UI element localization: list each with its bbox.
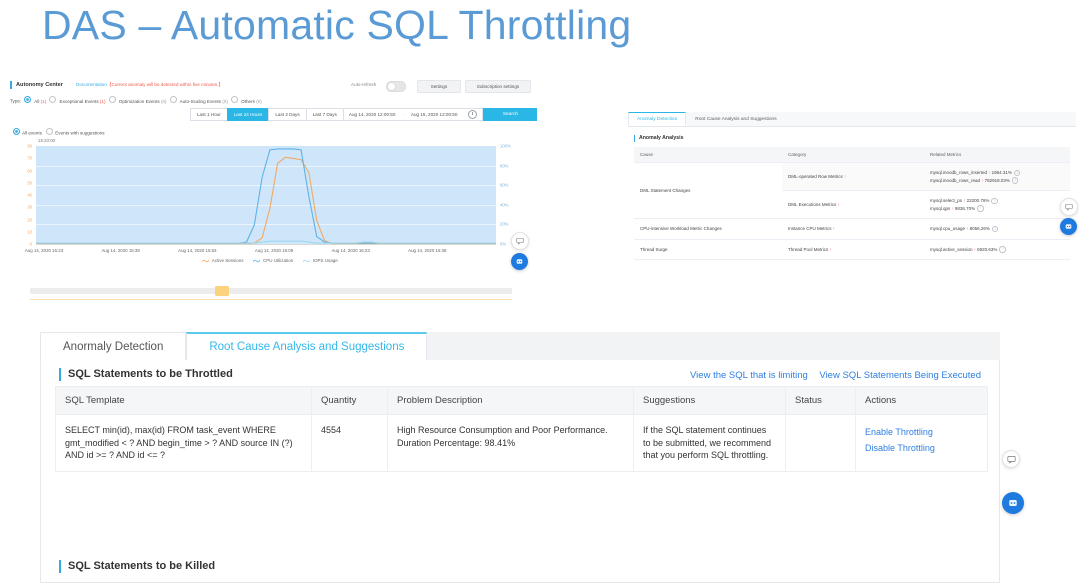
right-panel-tabs: Anomaly Detection Root Cause Analysis an… <box>628 112 1076 127</box>
x-axis-tick: Aug 14, 2020 15:23 <box>25 248 63 253</box>
root-cause-panel: Anormaly Detection Root Cause Analysis a… <box>40 332 1000 582</box>
tab-anormaly-detection[interactable]: Anormaly Detection <box>40 332 186 360</box>
link-view-executing-sql[interactable]: View SQL Statements Being Executed <box>819 370 981 381</box>
cell-category: Instance CPU Metrics ↑ <box>782 219 924 240</box>
y-left-tick: 60 <box>27 168 32 173</box>
col-category: Category <box>782 147 924 163</box>
radio-type-exceptional-events[interactable] <box>49 96 56 103</box>
count-type-auto-scaling-events: (0) <box>222 99 228 104</box>
slide-root: DAS – Automatic SQL Throttling Autonomy … <box>0 0 1080 588</box>
metric-name: mysql.select_ps <box>930 198 962 203</box>
trend-up-icon: ↑ <box>963 198 965 203</box>
col-actions: Actions <box>856 387 988 415</box>
trend-up-icon: ↑ <box>838 202 840 207</box>
metric-value: 6920.63% <box>977 247 997 252</box>
info-icon[interactable]: ? <box>977 205 983 211</box>
link-view-limiting-sql[interactable]: View the SQL that is limiting <box>690 370 808 381</box>
type-filter-label: Type: <box>10 99 21 104</box>
legend-swatch-icon <box>253 259 260 263</box>
chart-plot-area <box>36 146 496 245</box>
cell-related-metrics: mysql.select_ps ↑ 22200.76%?mysql.qps ↑ … <box>924 191 1070 219</box>
metric-item: mysql.innodb_rows_inserted ↑ 1964.31%? <box>930 169 1064 177</box>
y-right-tick: 20% <box>500 222 508 227</box>
table-row[interactable]: CPU-intensive Workload Metric ChangesIns… <box>634 219 1070 240</box>
range-last-1-hour[interactable]: Last 1 Hour <box>190 108 227 121</box>
chart-tooltip-time: 15:23:00 <box>38 138 55 143</box>
trend-up-icon: ↑ <box>981 178 983 183</box>
x-axis-tick: Aug 14, 2020 15:53 <box>178 248 216 253</box>
radio-type-optimization-events[interactable] <box>109 96 116 103</box>
label-all-events: All events <box>22 131 42 136</box>
robot-icon <box>1007 497 1019 509</box>
chart-y-axis-left: 80706050403020100 <box>10 146 32 244</box>
info-icon[interactable]: ? <box>992 226 998 232</box>
bottom-panel-body: SQL Statements to be Throttled View the … <box>40 360 1000 583</box>
count-type-exceptional-events: (1) <box>100 99 106 104</box>
robot-icon <box>515 257 524 266</box>
cell-category: DML-operated Row Metrics ↑ <box>782 163 924 191</box>
metric-item: mysql.cpu_usage ↑ 8056.26%? <box>930 225 1064 233</box>
subscription-settings-button[interactable]: Subscription settings <box>465 80 531 93</box>
cell-cause: Thread Surge <box>634 239 782 260</box>
table-row[interactable]: Thread SurgeThread Pool Metrics ↑mysql.a… <box>634 239 1070 260</box>
throttled-section-header: SQL Statements to be Throttled View the … <box>41 360 999 386</box>
feedback-icon-right[interactable] <box>1060 198 1078 216</box>
radio-all-events[interactable] <box>13 128 20 135</box>
event-filter-row[interactable]: All events Events with suggestions <box>10 128 105 136</box>
cell-category: DML Executions Metrics ↑ <box>782 191 924 219</box>
range-last-24-hours[interactable]: Last 24 Hours <box>227 108 269 121</box>
killed-section-title: SQL Statements to be Killed <box>59 560 215 573</box>
chart-x-axis: Aug 14, 2020 15:23Aug 14, 2020 15:38Aug … <box>10 248 530 258</box>
time-range-slider[interactable] <box>30 288 512 294</box>
y-left-tick: 30 <box>27 205 32 210</box>
info-icon[interactable]: ? <box>1014 170 1020 176</box>
table-row[interactable]: DML Statement ChangesDML-operated Row Me… <box>634 163 1070 191</box>
anomaly-detection-panel: Anomaly Detection Root Cause Analysis an… <box>628 112 1076 272</box>
cell-category: Thread Pool Metrics ↑ <box>782 239 924 260</box>
legend-swatch-icon <box>202 259 209 263</box>
page-title: DAS – Automatic SQL Throttling <box>42 2 631 49</box>
date-to: Aug 15, 2020 12:00:50 <box>411 112 458 117</box>
documentation-label: Documentation <box>76 82 107 87</box>
col-related-metrics: Related Metrics <box>924 147 1070 163</box>
trend-up-icon: ↑ <box>830 247 832 252</box>
chart-line-active-sessions <box>36 157 496 244</box>
label-type-exceptional-events: Exceptional Events <box>58 99 100 104</box>
label-events-with-suggestions: Events with suggestions <box>55 131 104 136</box>
anomaly-analysis-table: Cause Category Related Metrics DML State… <box>634 147 1070 260</box>
legend-label: Active Sessions <box>212 258 244 263</box>
chart-line-cpu-utilization <box>36 149 496 243</box>
type-filter-row: Type: All (1) Exceptional Events (1) Opt… <box>10 96 262 104</box>
tab-spacer <box>427 332 1000 360</box>
cell-status <box>786 415 856 472</box>
type-filter-options[interactable]: All (1) Exceptional Events (1) Optimizat… <box>21 99 262 104</box>
y-left-tick: 80 <box>27 144 32 149</box>
col-problem-description: Problem Description <box>388 387 634 415</box>
y-left-tick: 40 <box>27 193 32 198</box>
metric-value: 1964.31% <box>992 170 1012 175</box>
trend-up-icon: ↑ <box>844 174 846 179</box>
enable-throttling-link[interactable]: Enable Throttling <box>865 424 978 440</box>
legend-item[interactable]: CPU Utilization <box>253 258 293 263</box>
bottom-panel-tabs: Anormaly Detection Root Cause Analysis a… <box>40 332 1000 360</box>
x-axis-tick: Aug 14, 2020 16:08 <box>255 248 293 253</box>
x-axis-tick: Aug 14, 2020 16:38 <box>408 248 446 253</box>
tab-root-cause-analysis-suggestions[interactable]: Root Cause Analysis and Suggestions <box>186 332 427 360</box>
chat-icon <box>1065 203 1073 211</box>
chart-y-axis-right: 100%80%60%40%20%0% <box>498 146 530 244</box>
label-type-auto-scaling-events: Auto-Scaling Events <box>179 99 223 104</box>
metric-item: mysql.innodb_rows_read ↑ 782918.03%? <box>930 177 1064 185</box>
legend-label: CPU Utilization <box>263 258 293 263</box>
label-type-others: Others <box>240 99 256 104</box>
autonomy-center-panel: Autonomy Center Documentation【Current an… <box>4 78 536 278</box>
metric-item: mysql.active_session ↑ 6920.63%? <box>930 246 1064 254</box>
range-last-2-days[interactable]: Last 2 Days <box>268 108 305 121</box>
assistant-button-bottom[interactable] <box>1002 492 1024 514</box>
metric-name: mysql.cpu_usage <box>930 226 965 231</box>
throttled-section-title: SQL Statements to be Throttled <box>59 368 233 381</box>
metric-item: mysql.qps ↑ 9836.70%? <box>930 205 1064 213</box>
range-last-7-days[interactable]: Last 7 Days <box>306 108 343 121</box>
table-header-row: Cause Category Related Metrics <box>634 147 1070 163</box>
throttled-sql-table: SQL Template Quantity Problem Descriptio… <box>55 386 988 472</box>
documentation-note: 【Current anomaly will be detected within… <box>107 82 223 87</box>
metric-value: 9836.70% <box>955 206 975 211</box>
assistant-button-left[interactable] <box>511 253 528 270</box>
info-icon[interactable]: ? <box>1012 177 1018 183</box>
chat-icon <box>1007 455 1016 464</box>
settings-button[interactable]: Settings <box>417 80 461 93</box>
radio-events-with-suggestions[interactable] <box>46 128 53 135</box>
x-axis-tick: Aug 14, 2020 15:38 <box>101 248 139 253</box>
disable-throttling-link[interactable]: Disable Throttling <box>865 440 978 456</box>
clock-icon <box>468 110 477 119</box>
col-suggestions: Suggestions <box>634 387 786 415</box>
info-icon[interactable]: ? <box>999 246 1005 252</box>
col-sql-template: SQL Template <box>56 387 312 415</box>
console-title: Autonomy Center <box>10 81 63 89</box>
y-left-tick: 70 <box>27 156 32 161</box>
radio-type-auto-scaling-events[interactable] <box>170 96 177 103</box>
metric-item: mysql.select_ps ↑ 22200.76%? <box>930 197 1064 205</box>
y-right-tick: 60% <box>500 183 508 188</box>
y-right-tick: 100% <box>500 144 511 149</box>
legend-swatch-icon <box>303 259 310 263</box>
label-type-all: All <box>33 99 40 104</box>
assistant-button-right[interactable] <box>1060 218 1077 235</box>
header-links: View the SQL that is limiting View SQL S… <box>681 370 981 381</box>
slider-thumb[interactable] <box>215 286 229 296</box>
col-quantity: Quantity <box>312 387 388 415</box>
robot-icon <box>1064 222 1073 231</box>
time-range-controls: Last 1 Hour Last 24 Hours Last 2 Days La… <box>190 108 537 121</box>
cell-related-metrics: mysql.innodb_rows_inserted ↑ 1964.31%?my… <box>924 163 1070 191</box>
chart-line-iops-usage <box>36 241 496 243</box>
count-type-others: (0) <box>256 99 262 104</box>
anomaly-analysis-title: Anomaly Analysis <box>634 135 1076 142</box>
y-right-tick: 80% <box>500 163 508 168</box>
chart-series-svg <box>36 146 496 244</box>
radio-type-others[interactable] <box>231 96 238 103</box>
table-row[interactable]: SELECT min(id), max(id) FROM task_event … <box>56 415 988 472</box>
metric-name: mysql.active_session <box>930 247 973 252</box>
col-status: Status <box>786 387 856 415</box>
documentation-link[interactable]: Documentation【Current anomaly will be de… <box>76 82 223 88</box>
metric-value: 782918.03% <box>985 178 1010 183</box>
col-cause: Cause <box>634 147 782 163</box>
legend-label: IOPS Usage <box>313 258 338 263</box>
date-from: Aug 14, 2020 12:00:50 <box>349 112 396 117</box>
radio-type-all[interactable] <box>24 96 31 103</box>
y-left-tick: 0 <box>30 242 32 247</box>
chat-icon <box>516 237 524 245</box>
slider-underline <box>30 299 512 300</box>
feedback-icon-bottom[interactable] <box>1002 450 1020 468</box>
y-left-tick: 20 <box>27 217 32 222</box>
date-separator: - <box>402 112 404 117</box>
cell-problem-description: High Resource Consumption and Poor Perfo… <box>388 415 634 472</box>
cell-actions: Enable Throttling Disable Throttling <box>856 415 988 472</box>
cell-related-metrics: mysql.cpu_usage ↑ 8056.26%? <box>924 219 1070 240</box>
cell-cause: CPU-intensive Workload Metric Changes <box>634 219 782 240</box>
metrics-chart: 15:23:00 80706050403020100 100%80%60%40%… <box>10 140 530 266</box>
chart-legend[interactable]: Active SessionsCPU UtilizationIOPS Usage <box>10 258 530 263</box>
cell-cause: DML Statement Changes <box>634 163 782 219</box>
info-icon[interactable]: ? <box>991 198 997 204</box>
feedback-icon-left[interactable] <box>511 232 529 250</box>
trend-up-icon: ↑ <box>988 170 990 175</box>
label-type-optimization-events: Optimization Events <box>118 99 161 104</box>
metric-name: mysql.innodb_rows_read <box>930 178 980 183</box>
y-right-tick: 0% <box>500 242 506 247</box>
tab-anomaly-detection[interactable]: Anomaly Detection <box>628 112 686 126</box>
legend-item[interactable]: Active Sessions <box>202 258 243 263</box>
metric-value: 8056.26% <box>970 226 990 231</box>
metric-name: mysql.innodb_rows_inserted <box>930 170 987 175</box>
cell-sql-template: SELECT min(id), max(id) FROM task_event … <box>56 415 312 472</box>
trend-up-icon: ↑ <box>952 206 954 211</box>
y-left-tick: 10 <box>27 229 32 234</box>
auto-refresh-label: Auto-refresh <box>351 82 376 87</box>
metric-name: mysql.qps <box>930 206 950 211</box>
trend-up-icon: ↑ <box>974 247 976 252</box>
cell-quantity: 4554 <box>312 415 388 472</box>
trend-up-icon: ↑ <box>966 226 968 231</box>
y-left-tick: 50 <box>27 180 32 185</box>
search-button[interactable]: Search <box>483 108 537 121</box>
trend-up-icon: ↑ <box>833 226 835 231</box>
auto-refresh-toggle[interactable] <box>386 81 406 92</box>
y-right-tick: 40% <box>500 202 508 207</box>
legend-item[interactable]: IOPS Usage <box>303 258 338 263</box>
console-header: Autonomy Center Documentation【Current an… <box>4 78 536 94</box>
count-type-all: (1) <box>41 99 47 104</box>
metric-value: 22200.76% <box>967 198 990 203</box>
date-range-picker[interactable]: Aug 14, 2020 12:00:50 - Aug 15, 2020 12:… <box>343 108 484 121</box>
cell-suggestions: If the SQL statement continues to be sub… <box>634 415 786 472</box>
x-axis-tick: Aug 14, 2020 16:23 <box>331 248 369 253</box>
count-type-optimization-events: (0) <box>161 99 167 104</box>
table-header-row: SQL Template Quantity Problem Descriptio… <box>56 387 988 415</box>
tab-root-cause-analysis[interactable]: Root Cause Analysis and Suggestions <box>686 112 785 126</box>
cell-related-metrics: mysql.active_session ↑ 6920.63%? <box>924 239 1070 260</box>
